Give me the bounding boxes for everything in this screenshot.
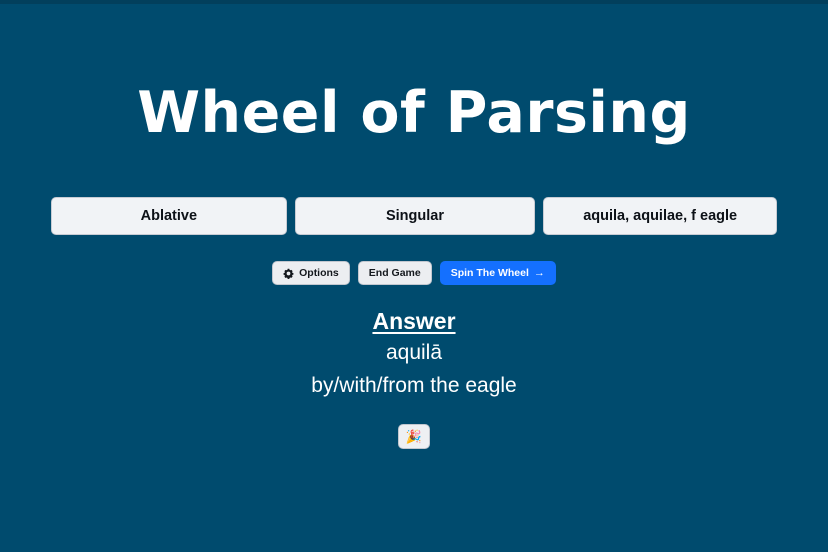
end-game-button[interactable]: End Game [358, 261, 432, 285]
answer-translation: by/with/from the eagle [0, 369, 828, 402]
answer-form: aquilā [0, 336, 828, 369]
celebrate-button[interactable]: 🎉 [398, 424, 430, 449]
prompt-row: Ablative Singular aquila, aquilae, f eag… [51, 197, 777, 235]
options-button[interactable]: Options [272, 261, 350, 285]
celebrate-row: 🎉 [0, 424, 828, 449]
page-title: Wheel of Parsing [0, 78, 828, 148]
spin-the-wheel-button-label: Spin The Wheel [451, 267, 529, 279]
answer-heading: Answer [0, 306, 828, 336]
answer-block: Answer aquilā by/with/from the eagle [0, 306, 828, 402]
prompt-box-vocabulary: aquila, aquilae, f eagle [543, 197, 777, 235]
options-button-label: Options [299, 267, 339, 279]
party-popper-icon: 🎉 [406, 430, 422, 443]
prompt-box-case: Ablative [51, 197, 287, 235]
arrow-right-icon: → [534, 268, 545, 279]
wheel-of-parsing-app: Wheel of Parsing Ablative Singular aquil… [0, 0, 828, 552]
controls-row: Options End Game Spin The Wheel → [0, 261, 828, 285]
spin-the-wheel-button[interactable]: Spin The Wheel → [440, 261, 556, 285]
gear-icon [283, 268, 294, 279]
top-browser-bar [0, 0, 828, 4]
end-game-button-label: End Game [369, 267, 421, 279]
prompt-box-number: Singular [295, 197, 536, 235]
